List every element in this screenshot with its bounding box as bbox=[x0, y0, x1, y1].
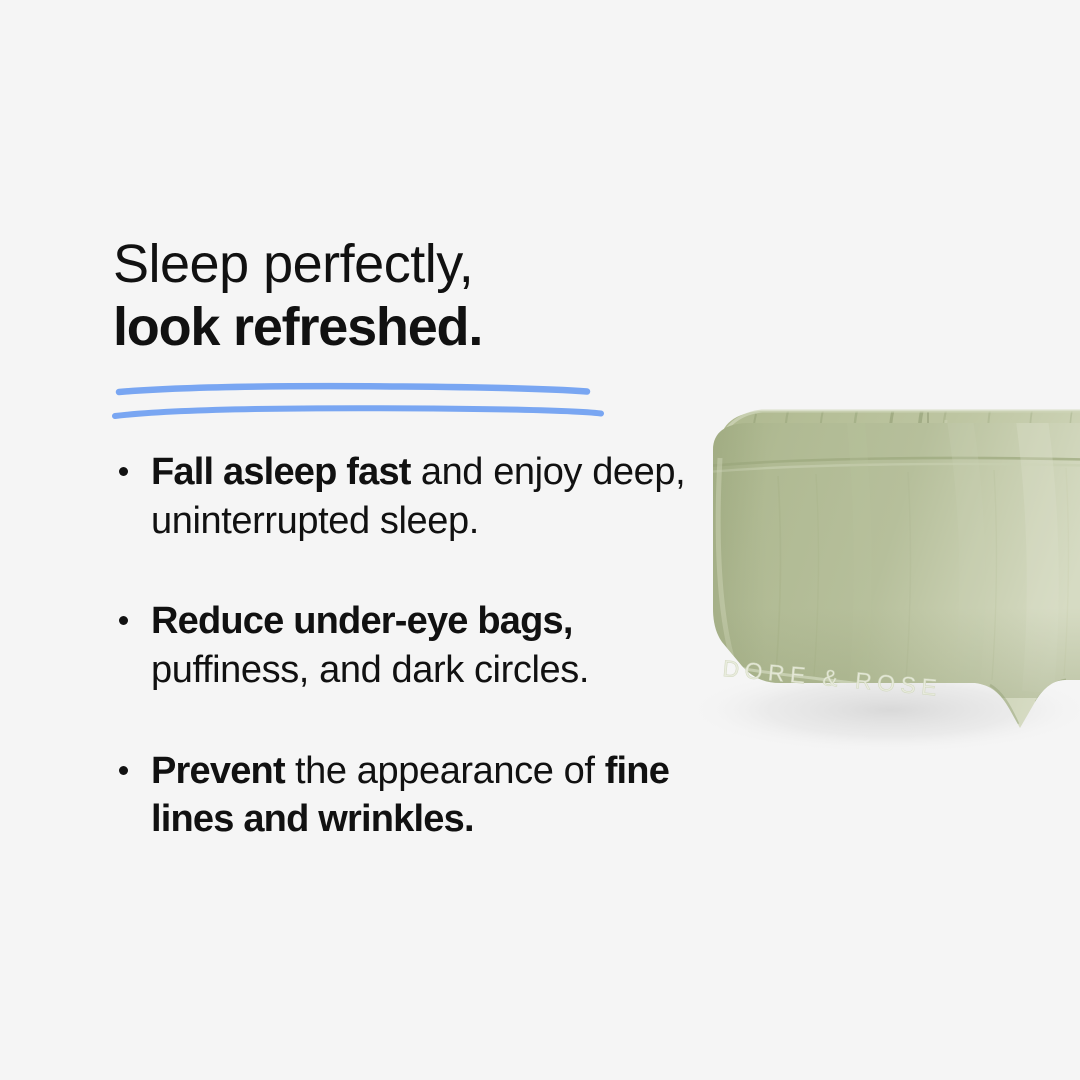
ad-canvas: Sleep perfectly, look refreshed. Fall as… bbox=[0, 0, 1080, 1080]
list-item: Prevent the appearance of fine lines and… bbox=[113, 747, 713, 844]
headline-line-2: look refreshed. bbox=[113, 296, 693, 359]
mask-body: DORE & ROSE bbox=[700, 420, 1080, 728]
benefit-bold-lead: Fall asleep fast bbox=[151, 451, 411, 493]
headline-block: Sleep perfectly, look refreshed. bbox=[113, 233, 693, 358]
benefit-rest: the appearance of bbox=[285, 750, 605, 792]
hand-drawn-double-underline-icon bbox=[113, 378, 633, 434]
page-title: Sleep perfectly, look refreshed. bbox=[113, 233, 693, 358]
bullet-dot-icon bbox=[119, 766, 128, 775]
benefits-list: Fall asleep fast and enjoy deep, uninter… bbox=[113, 448, 713, 844]
benefit-bold-lead: Reduce under-eye bags, bbox=[151, 600, 573, 642]
headline-line-1: Sleep perfectly, bbox=[113, 233, 693, 296]
bullet-dot-icon bbox=[119, 467, 128, 476]
benefit-bold-lead: Prevent bbox=[151, 750, 285, 792]
list-item: Fall asleep fast and enjoy deep, uninter… bbox=[113, 448, 713, 545]
benefit-rest: puffiness, and dark circles. bbox=[151, 649, 589, 691]
list-item: Reduce under-eye bags, puffiness, and da… bbox=[113, 597, 713, 694]
bullet-dot-icon bbox=[119, 616, 128, 625]
product-image-sleep-mask: DORE & ROSE bbox=[660, 380, 1080, 840]
